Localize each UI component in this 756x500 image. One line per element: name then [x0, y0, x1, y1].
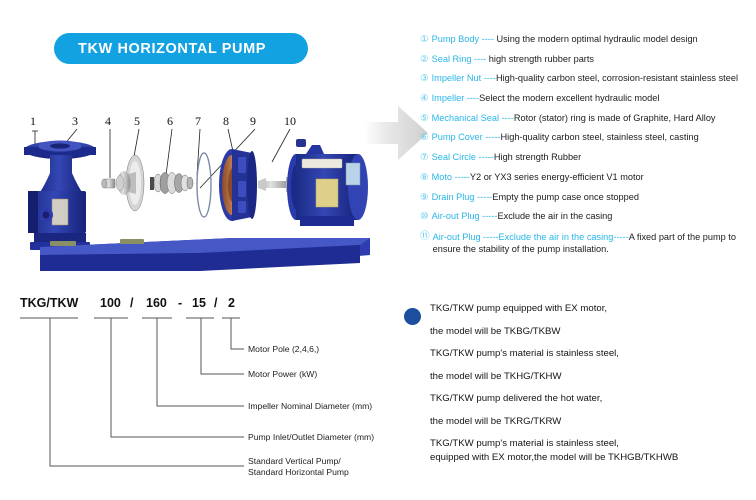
page-title: TKW HORIZONTAL PUMP: [54, 41, 266, 57]
legend-separator: -----: [475, 192, 493, 202]
model-label-motor-power: Motor Power (kW): [248, 369, 317, 380]
legend-item: ① Pump Body ---- Using the modern optima…: [420, 34, 754, 46]
legend-description: Empty the pump case once stopped: [492, 192, 639, 202]
legend-part-name: Seal Circle: [432, 152, 476, 162]
legend-separator: ----: [499, 113, 514, 123]
model-label-inlet-dia: Pump Inlet/Outlet Diameter (mm): [248, 432, 374, 443]
legend-number: ⑪: [420, 231, 430, 243]
legend-item: ⑪ Air-out Plug -----Exclude the air in t…: [420, 231, 754, 256]
legend-separator: -----: [452, 172, 470, 182]
legend-number: ⑩: [420, 211, 429, 223]
legend-number: ⑧: [420, 172, 429, 184]
svg-text:1: 1: [30, 114, 36, 128]
legend-separator: -----: [480, 211, 498, 221]
part-shaft: [258, 177, 292, 192]
legend-text: Pump Body ---- Using the modern optimal …: [432, 34, 754, 46]
part-mechanical-seal: [150, 173, 193, 194]
legend-separator: -----: [483, 132, 501, 142]
legend-item: ⑨ Drain Plug -----Empty the pump case on…: [420, 192, 754, 204]
page-title-banner: TKW HORIZONTAL PUMP: [54, 33, 308, 64]
svg-text:4: 4: [105, 114, 111, 128]
part-impeller-nut: [102, 179, 115, 188]
legend-item: ⑥ Pump Cover -----High-quality carbon st…: [420, 132, 754, 144]
note-line: TKG/TKW pump's material is stainless ste…: [430, 438, 754, 450]
legend-text: Pump Cover -----High-quality carbon stee…: [432, 132, 754, 144]
part-impeller: [116, 155, 144, 211]
legend-description: Rotor (stator) ring is made of Graphite,…: [514, 113, 716, 123]
svg-text:5: 5: [134, 114, 140, 128]
legend-item: ⑤ Mechanical Seal ----Rotor (stator) rin…: [420, 113, 754, 125]
part-pump-cover: [219, 149, 257, 221]
legend-number: ⑦: [420, 152, 429, 164]
legend-number: ②: [420, 54, 429, 66]
legend-part-name: Air-out Plug: [433, 232, 481, 242]
note-line: the model will be TKHG/TKHW: [430, 371, 754, 383]
legend-part-name: Seal Ring: [432, 54, 472, 64]
legend-separator: ----: [471, 54, 488, 64]
exploded-pump-diagram: 1 2 3 4 5 6 7 8 9 10 11: [0, 95, 400, 290]
legend-description: High-quality carbon steel, stainless ste…: [501, 132, 699, 142]
legend-item: ④ Impeller ----Select the modern excelle…: [420, 93, 754, 105]
legend-number: ③: [420, 73, 429, 85]
legend-text: Air-out Plug -----Exclude the air in the…: [432, 211, 754, 223]
svg-text:9: 9: [250, 114, 256, 128]
legend-text: Seal Ring ---- high strength rubber part…: [432, 54, 754, 66]
note-line: the model will be TKRG/TKRW: [430, 416, 754, 428]
part-seal-circle: [197, 153, 211, 217]
note-line: the model will be TKBG/TKBW: [430, 326, 754, 338]
legend-text: Air-out Plug -----Exclude the air in the…: [433, 231, 754, 256]
legend-part-name: Moto: [432, 172, 452, 182]
legend-item: ⑦ Seal Circle -----High strength Rubber: [420, 152, 754, 164]
legend-text: Drain Plug -----Empty the pump case once…: [432, 192, 754, 204]
note-line: TKG/TKW pump equipped with EX motor,: [430, 303, 754, 315]
legend-number: ①: [420, 34, 429, 46]
legend-part-name: Air-out Plug: [432, 211, 480, 221]
part-pump-body: [24, 141, 96, 251]
legend-description-cyan: Exclude the air in the casing-----: [498, 232, 628, 242]
legend-number: ⑤: [420, 113, 429, 125]
model-variants-notes: TKG/TKW pump equipped with EX motor, the…: [404, 303, 754, 475]
note-line: TKG/TKW pump delivered the hot water,: [430, 393, 754, 405]
legend-description: Y2 or YX3 series energy-efficient V1 mot…: [470, 172, 644, 182]
svg-text:3: 3: [72, 114, 78, 128]
legend-description: Exclude the air in the casing: [497, 211, 612, 221]
bracket-lines: [20, 318, 244, 466]
legend-item: ③ Impeller Nut ----High-quality carbon s…: [420, 73, 754, 85]
legend-part-name: Pump Body: [432, 34, 480, 44]
svg-text:7: 7: [195, 114, 201, 128]
legend-number: ⑨: [420, 192, 429, 204]
legend-separator: ----: [464, 93, 479, 103]
legend-item: ② Seal Ring ---- high strength rubber pa…: [420, 54, 754, 66]
legend-description: High-quality carbon steel, corrosion-res…: [496, 73, 738, 83]
bullet-icon: [404, 308, 421, 325]
parts-legend-list: ① Pump Body ---- Using the modern optima…: [420, 34, 754, 264]
part-motor: [287, 139, 368, 226]
legend-text: Mechanical Seal ----Rotor (stator) ring …: [432, 113, 754, 125]
model-label-motor-pole: Motor Pole (2,4,6,): [248, 344, 319, 355]
legend-description: Using the modern optimal hydraulic model…: [496, 34, 697, 44]
svg-text:6: 6: [167, 114, 173, 128]
model-label-pump-type-1: Standard Vertical Pump/: [248, 456, 341, 467]
legend-separator: -----: [481, 232, 499, 242]
model-code-breakdown: TKG/TKW 100 / 160 - 15 / 2: [18, 296, 398, 496]
legend-number: ⑥: [420, 132, 429, 144]
legend-text: Seal Circle -----High strength Rubber: [432, 152, 754, 164]
legend-item: ⑩ Air-out Plug -----Exclude the air in t…: [420, 211, 754, 223]
legend-part-name: Pump Cover: [432, 132, 483, 142]
legend-description: Select the modern excellent hydraulic mo…: [479, 93, 659, 103]
legend-part-name: Impeller: [432, 93, 465, 103]
legend-part-name: Impeller Nut: [432, 73, 482, 83]
page-root: TKW HORIZONTAL PUMP: [0, 0, 756, 500]
legend-text: Moto -----Y2 or YX3 series energy-effici…: [432, 172, 754, 184]
legend-number: ④: [420, 93, 429, 105]
svg-text:10: 10: [284, 114, 296, 128]
legend-separator: ----: [481, 73, 496, 83]
model-label-impeller-dia: Impeller Nominal Diameter (mm): [248, 401, 372, 412]
legend-part-name: Drain Plug: [432, 192, 475, 202]
legend-separator: -----: [476, 152, 494, 162]
note-line: equipped with EX motor,the model will be…: [430, 452, 754, 464]
legend-text: Impeller ----Select the modern excellent…: [432, 93, 754, 105]
legend-item: ⑧ Moto -----Y2 or YX3 series energy-effi…: [420, 172, 754, 184]
legend-part-name: Mechanical Seal: [432, 113, 499, 123]
note-line: TKG/TKW pump's material is stainless ste…: [430, 348, 754, 360]
svg-text:8: 8: [223, 114, 229, 128]
legend-description: High strength Rubber: [494, 152, 581, 162]
legend-description: high strength rubber parts: [489, 54, 594, 64]
legend-text: Impeller Nut ----High-quality carbon ste…: [432, 73, 754, 85]
model-label-pump-type-2: Standard Horizontal Pump: [248, 467, 349, 478]
legend-separator: ----: [479, 34, 496, 44]
